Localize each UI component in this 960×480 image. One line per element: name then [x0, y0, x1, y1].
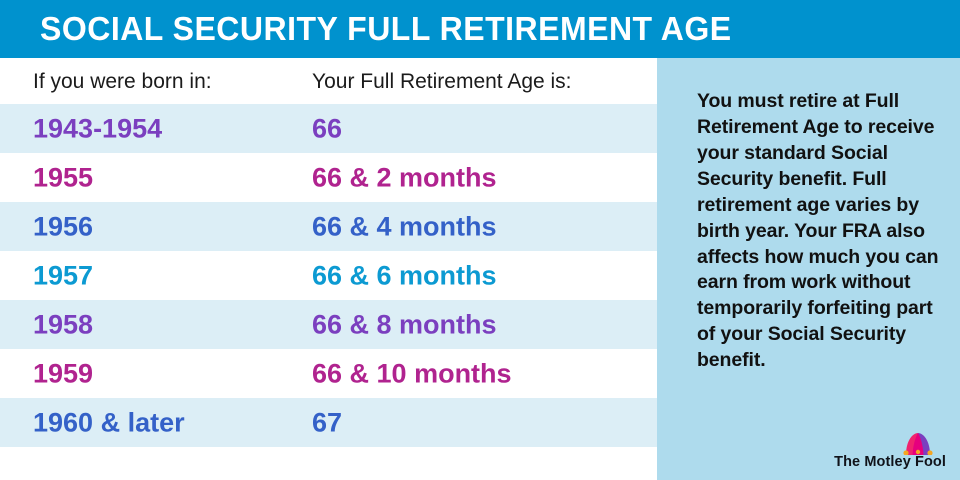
table-row: 195566 & 2 months	[0, 153, 657, 202]
table-row: 1943-195466	[0, 104, 657, 153]
infographic-canvas: SOCIAL SECURITY FULL RETIREMENT AGE If y…	[0, 0, 960, 480]
table-row: 195966 & 10 months	[0, 349, 657, 398]
cell-retirement-age: 66 & 8 months	[312, 311, 497, 338]
cell-birth-year: 1943-1954	[33, 115, 162, 142]
table-row: 1960 & later67	[0, 398, 657, 447]
table-row: 195766 & 6 months	[0, 251, 657, 300]
column-header-birth-year: If you were born in:	[33, 70, 212, 94]
cell-birth-year: 1957	[33, 262, 93, 289]
header-bar: SOCIAL SECURITY FULL RETIREMENT AGE	[0, 0, 960, 58]
note-panel: You must retire at Full Retirement Age t…	[657, 58, 960, 480]
cell-birth-year: 1956	[33, 213, 93, 240]
cell-retirement-age: 67	[312, 409, 342, 436]
note-text: You must retire at Full Retirement Age t…	[697, 89, 940, 374]
table-row: 195666 & 4 months	[0, 202, 657, 251]
table-header-row: If you were born in: Your Full Retiremen…	[0, 58, 657, 104]
cell-birth-year: 1955	[33, 164, 93, 191]
cell-retirement-age: 66 & 10 months	[312, 360, 512, 387]
page-title: SOCIAL SECURITY FULL RETIREMENT AGE	[40, 10, 732, 48]
cell-retirement-age: 66 & 2 months	[312, 164, 497, 191]
table-body: 1943-195466195566 & 2 months195666 & 4 m…	[0, 104, 657, 447]
logo-wordmark: The Motley Fool	[834, 454, 946, 470]
cell-birth-year: 1960 & later	[33, 409, 185, 436]
cell-retirement-age: 66	[312, 115, 342, 142]
jester-hat-icon	[892, 429, 944, 455]
table-row: 195866 & 8 months	[0, 300, 657, 349]
retirement-age-table: If you were born in: Your Full Retiremen…	[0, 58, 657, 480]
cell-retirement-age: 66 & 4 months	[312, 213, 497, 240]
motley-fool-logo: The Motley Fool	[786, 424, 946, 472]
column-header-retirement-age: Your Full Retirement Age is:	[312, 70, 572, 94]
cell-birth-year: 1959	[33, 360, 93, 387]
cell-retirement-age: 66 & 6 months	[312, 262, 497, 289]
cell-birth-year: 1958	[33, 311, 93, 338]
